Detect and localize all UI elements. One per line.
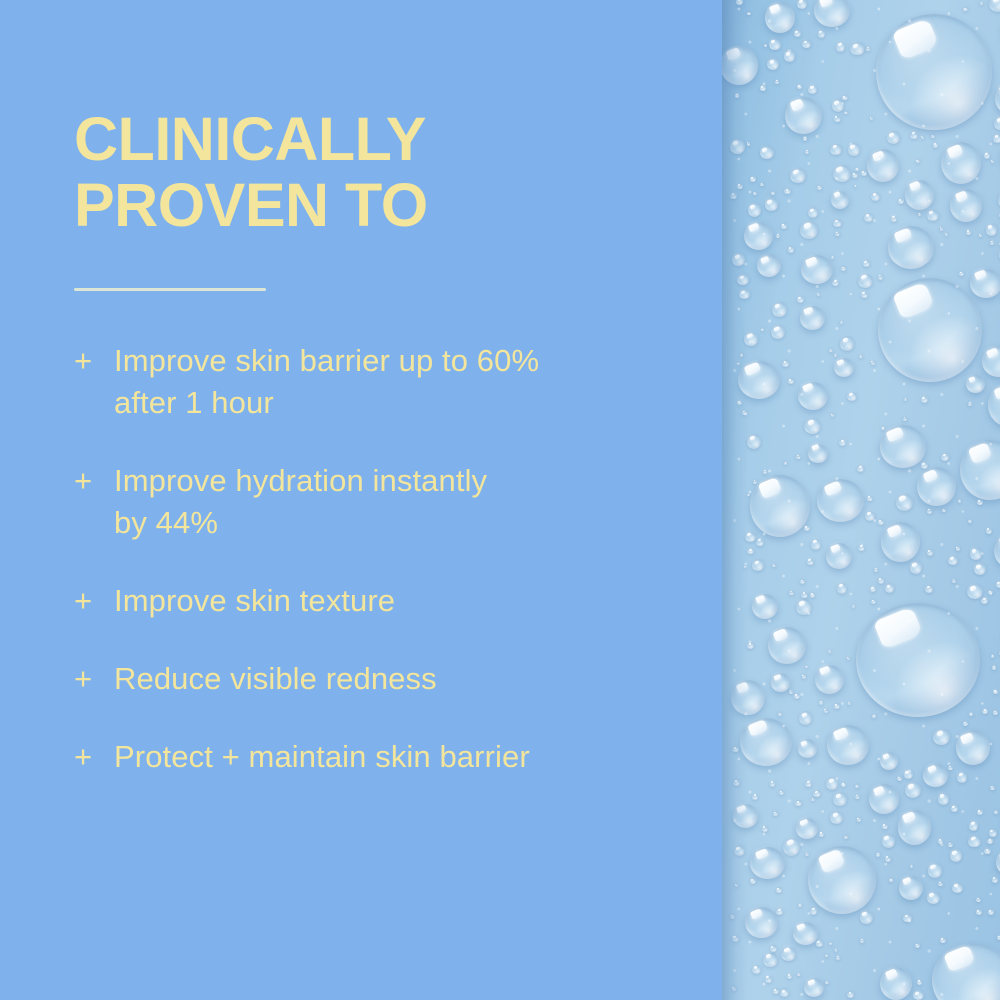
water-droplet [797, 0, 808, 9]
list-item-label: Reduce visible redness [114, 658, 694, 700]
water-droplet [772, 302, 786, 317]
water-droplet [752, 559, 763, 570]
water-droplet [992, 665, 996, 669]
list-item: + Protect + maintain skin barrier [74, 736, 694, 778]
water-droplet [829, 942, 832, 945]
water-droplet [880, 752, 898, 770]
water-droplet [952, 579, 956, 583]
water-droplet [928, 863, 943, 877]
water-droplet [789, 591, 793, 595]
water-droplet [848, 143, 860, 155]
water-droplet [878, 278, 982, 383]
water-droplet [824, 709, 828, 713]
water-droplet [993, 134, 1000, 143]
water-droplet [871, 599, 876, 604]
water-droplet [833, 165, 851, 182]
water-droplet [850, 42, 864, 55]
water-droplet [765, 2, 795, 32]
water-droplet [841, 782, 847, 787]
water-droplet [871, 192, 880, 201]
water-droplet [781, 223, 786, 229]
water-droplet [796, 599, 812, 615]
water-droplet [910, 132, 918, 140]
water-droplet [844, 835, 848, 838]
water-droplet [869, 784, 898, 813]
water-droplet [830, 144, 841, 155]
water-droplet [805, 150, 809, 154]
water-droplet [948, 766, 952, 770]
water-droplet [994, 533, 1000, 569]
water-droplet [905, 782, 921, 798]
water-droplet [918, 213, 921, 216]
water-droplet [737, 400, 742, 405]
water-droplet [737, 184, 743, 190]
water-droplet [942, 509, 946, 512]
water-droplet [987, 838, 993, 844]
water-droplet [780, 988, 789, 997]
water-droplet [760, 146, 774, 159]
water-droplet [984, 848, 990, 854]
water-droplet [958, 499, 961, 502]
water-droplet [794, 693, 800, 699]
water-droplet [927, 509, 932, 514]
water-droplet [832, 280, 839, 286]
water-droplet [948, 843, 953, 848]
water-droplet [794, 30, 801, 37]
water-droplet [885, 583, 894, 592]
water-droplet [750, 475, 810, 537]
water-droplet [976, 909, 982, 915]
water-droplet [730, 914, 735, 919]
water-droplet [760, 183, 763, 186]
water-droplet [847, 991, 853, 997]
water-droplet [989, 0, 1000, 12]
water-droplet [800, 579, 805, 584]
water-droplet [887, 131, 901, 144]
water-droplet [913, 990, 924, 1000]
water-droplet [781, 947, 796, 961]
water-droplet [951, 805, 958, 812]
water-droplet [904, 770, 913, 779]
water-droplet [761, 328, 764, 331]
water-droplet [898, 198, 904, 204]
water-droplet [752, 965, 761, 974]
water-droplet [753, 192, 757, 195]
water-droplet [925, 585, 933, 593]
water-droplet [804, 418, 821, 434]
water-droplet [831, 413, 835, 417]
water-droplet [798, 382, 828, 410]
water-droplet [931, 135, 935, 139]
water-droplet [811, 798, 815, 801]
water-droplet [834, 354, 837, 357]
water-droplet [756, 539, 763, 546]
water-droplet [866, 47, 870, 51]
water-droplet [860, 939, 865, 943]
water-droplet [861, 292, 868, 298]
water-droplet [927, 892, 941, 904]
water-droplet [834, 116, 841, 122]
water-droplet [765, 198, 779, 211]
water-droplet [956, 730, 990, 765]
water-droplet [835, 949, 838, 952]
water-droplet [750, 176, 756, 182]
water-droplet [730, 139, 744, 153]
water-droplet [733, 779, 739, 786]
water-droplet [917, 467, 955, 506]
water-droplet [800, 306, 825, 330]
water-droplet [789, 690, 793, 694]
water-droplet [816, 940, 823, 947]
water-droplet [952, 883, 963, 893]
water-droplet [897, 776, 902, 781]
water-droplet [982, 346, 1000, 377]
water-droplet [737, 362, 740, 365]
water-droplet [796, 455, 800, 459]
water-droplet [867, 149, 899, 181]
water-droplet [817, 185, 822, 190]
water-droplet [870, 586, 877, 592]
water-droplet [733, 804, 759, 828]
water-droplet [847, 657, 850, 660]
water-droplet [804, 525, 810, 531]
water-droplet [989, 829, 997, 837]
water-droplet [830, 811, 843, 824]
water-droplet [839, 439, 846, 446]
water-droplet [836, 42, 846, 52]
water-droplet [767, 58, 779, 70]
water-droplet [750, 847, 785, 879]
water-droplet [841, 266, 846, 271]
water-droplet [974, 563, 986, 575]
water-droplet [740, 718, 792, 766]
list-item-label: Improve skin barrier up to 60% after 1 h… [114, 340, 694, 424]
plus-icon: + [74, 736, 114, 778]
water-droplet [993, 710, 998, 715]
water-droplet [880, 425, 927, 468]
water-droplet [818, 30, 825, 38]
plus-icon: + [74, 460, 114, 502]
water-droplet [738, 361, 781, 400]
water-droplet [917, 980, 922, 985]
list-item: + Reduce visible redness [74, 658, 694, 700]
water-droplet [834, 703, 840, 709]
water-droplet [783, 838, 800, 856]
water-droplet [966, 230, 972, 235]
water-droplet [742, 411, 747, 416]
water-droplet [876, 852, 880, 856]
page-title: CLINICALLY PROVEN TO [74, 106, 674, 238]
water-droplet [731, 680, 765, 715]
water-droplet [764, 44, 767, 47]
water-droplet [732, 253, 744, 266]
water-droplet [747, 434, 761, 449]
water-droplet [779, 790, 784, 795]
water-droplet [979, 234, 982, 237]
water-droplet [993, 689, 998, 694]
water-droplet [923, 764, 947, 786]
water-droplet [891, 216, 898, 223]
water-droplet [880, 967, 912, 1000]
water-droplet [739, 289, 750, 299]
water-droplet [858, 545, 865, 552]
water-droplet [797, 973, 801, 977]
water-droplet [829, 349, 833, 353]
water-droplet [842, 95, 848, 100]
water-droplet [980, 2, 983, 5]
water-droplet [940, 227, 944, 231]
water-droplet [736, 0, 743, 5]
water-droplet [773, 988, 779, 993]
water-droplet [852, 605, 855, 608]
water-droplet [748, 203, 761, 217]
water-droplet [905, 180, 934, 210]
water-droplet [814, 0, 850, 27]
water-droplet [970, 269, 1000, 299]
water-droplet [732, 986, 737, 991]
water-droplet [855, 795, 860, 799]
water-droplet [874, 568, 878, 573]
water-droplet [910, 865, 913, 868]
water-droplet [867, 496, 872, 502]
water-droplet [916, 159, 920, 163]
water-droplet [969, 821, 978, 830]
water-droplet [832, 99, 844, 112]
water-droplet [831, 256, 834, 259]
water-droplet [889, 878, 893, 882]
water-droplet [752, 794, 758, 800]
water-droplet [808, 207, 818, 218]
water-droplet [856, 603, 980, 717]
water-droplet [969, 712, 973, 716]
water-droplet [921, 462, 928, 469]
water-droplet [950, 189, 982, 222]
water-droplet [784, 461, 787, 464]
water-droplet [981, 597, 988, 604]
water-droplet [795, 800, 801, 806]
water-droplet [940, 938, 946, 943]
water-droplet [861, 170, 867, 176]
water-droplet [784, 50, 796, 62]
water-droplet [967, 584, 983, 599]
water-droplet [771, 325, 786, 339]
water-droplet [885, 856, 891, 862]
water-droplet [772, 564, 775, 567]
water-droplet [854, 185, 857, 188]
water-droplet [808, 846, 876, 914]
water-droplet [734, 845, 745, 856]
water-droplet [747, 142, 751, 146]
water-droplet [801, 255, 833, 284]
water-droplet [819, 700, 823, 704]
water-droplet [957, 772, 968, 782]
water-droplet [878, 275, 883, 280]
water-droplet [848, 702, 851, 705]
water-droplet [976, 898, 981, 903]
water-droplet [860, 911, 873, 925]
water-droplet [797, 84, 802, 89]
water-droplet [805, 665, 808, 668]
water-droplet [828, 650, 831, 653]
water-droplet [938, 882, 943, 886]
water-droplet [933, 142, 938, 147]
water-droplet [836, 956, 841, 961]
water-droplet [915, 943, 920, 948]
water-droplet [982, 708, 988, 714]
water-droplet [870, 117, 873, 121]
water-droplet [801, 592, 807, 598]
water-droplet [994, 810, 998, 814]
water-droplet [765, 976, 773, 983]
water-droplet [788, 378, 794, 384]
benefits-list: + Improve skin barrier up to 60% after 1… [74, 340, 694, 778]
water-droplet [805, 781, 812, 788]
water-droplet [747, 12, 750, 15]
water-droplet [903, 417, 907, 421]
water-droplet [810, 907, 817, 914]
water-droplet [927, 549, 933, 556]
water-droplet [826, 543, 852, 569]
water-droplet [963, 721, 967, 725]
water-droplet [977, 809, 983, 815]
water-droplet [802, 40, 810, 48]
water-droplet [798, 739, 817, 757]
water-droplet [956, 546, 960, 550]
list-item-label: Improve skin texture [114, 580, 694, 622]
water-droplet [732, 935, 739, 942]
water-droplet [785, 97, 822, 134]
water-droplet [793, 922, 817, 945]
list-item: + Improve hydration instantly by 44% [74, 460, 694, 544]
water-droplet [804, 978, 824, 997]
water-droplet [778, 712, 782, 716]
water-droplet [996, 850, 1000, 874]
water-droplet [948, 556, 958, 565]
water-droplet [881, 426, 885, 430]
plus-icon: + [74, 340, 114, 382]
water-droplet [863, 260, 871, 267]
water-droplet [750, 878, 757, 885]
water-droplet [844, 111, 848, 114]
water-droplet [945, 233, 949, 237]
water-droplet [910, 561, 923, 574]
water-droplet [855, 167, 859, 171]
water-droplet [782, 360, 788, 367]
water-droplet [881, 522, 920, 562]
water-droplet [776, 234, 781, 239]
water-droplet [968, 402, 972, 406]
water-droplet [817, 293, 820, 296]
water-droplet [991, 160, 994, 163]
list-item-label: Protect + maintain skin barrier [114, 736, 694, 778]
water-droplet [995, 82, 1000, 116]
water-droplet [833, 792, 847, 806]
water-droplet [826, 777, 838, 790]
water-droplet [988, 383, 1000, 427]
water-droplet [752, 594, 778, 619]
water-droplet [798, 904, 802, 908]
water-droplet [760, 85, 766, 90]
water-droplet [747, 548, 754, 554]
water-droplet [941, 453, 949, 461]
water-droplet [932, 943, 1000, 1000]
water-droplet [840, 336, 854, 350]
water-droplet [825, 981, 828, 984]
water-droplet [835, 232, 840, 236]
water-droplet [813, 790, 821, 797]
water-droplet [878, 577, 884, 583]
water-droplet [787, 974, 792, 979]
water-droplet [747, 642, 753, 648]
water-droplet [871, 361, 875, 365]
water-droplet [799, 711, 812, 724]
water-droplet [991, 654, 994, 657]
water-droplet [986, 224, 998, 236]
water-droplet [773, 811, 778, 816]
water-droplet [747, 494, 750, 497]
water-droplet [938, 839, 943, 844]
water-droplet [865, 511, 875, 521]
water-droplet [857, 817, 862, 822]
water-droplet [770, 781, 776, 787]
water-droplet [763, 470, 768, 475]
water-droplet [992, 877, 998, 883]
water-droplet [904, 398, 907, 401]
water-droplet [768, 627, 807, 665]
water-droplet [735, 883, 738, 887]
water-droplet [921, 136, 924, 139]
list-item-label: Improve hydration instantly by 44% [114, 460, 694, 544]
water-droplet-photo [722, 0, 1000, 1000]
water-droplet [878, 519, 884, 525]
water-droplet [745, 907, 778, 939]
water-droplet [960, 440, 1000, 501]
water-droplet [763, 953, 777, 967]
water-droplet [827, 725, 868, 765]
water-droplet [840, 321, 843, 324]
water-droplet [732, 746, 738, 752]
content-panel: CLINICALLY PROVEN TO + Improve skin barr… [0, 0, 722, 1000]
water-droplet [852, 172, 858, 178]
water-droplet [808, 444, 827, 463]
water-droplet [847, 392, 857, 401]
water-droplet [990, 241, 995, 246]
water-droplet [996, 581, 1000, 588]
water-droplet [790, 168, 806, 183]
plus-icon: + [74, 658, 114, 700]
promo-poster: CLINICALLY PROVEN TO + Improve skin barr… [0, 0, 1000, 1000]
water-droplet [899, 876, 923, 900]
water-droplet [744, 566, 747, 569]
water-droplet [788, 246, 794, 253]
water-droplet [800, 221, 818, 239]
water-droplet [815, 665, 843, 694]
water-droplet [757, 254, 781, 277]
water-droplet [784, 188, 790, 194]
water-droplet [988, 590, 993, 595]
water-droplet [864, 213, 873, 222]
water-droplet [984, 152, 991, 159]
water-droplet [819, 832, 824, 837]
water-droplet [833, 219, 842, 227]
water-droplet [970, 548, 982, 560]
water-droplet [968, 519, 972, 523]
water-droplet [808, 85, 817, 94]
water-droplet [855, 784, 859, 788]
water-droplet [837, 583, 847, 594]
water-droplet [882, 824, 888, 830]
water-droplet [796, 818, 818, 838]
